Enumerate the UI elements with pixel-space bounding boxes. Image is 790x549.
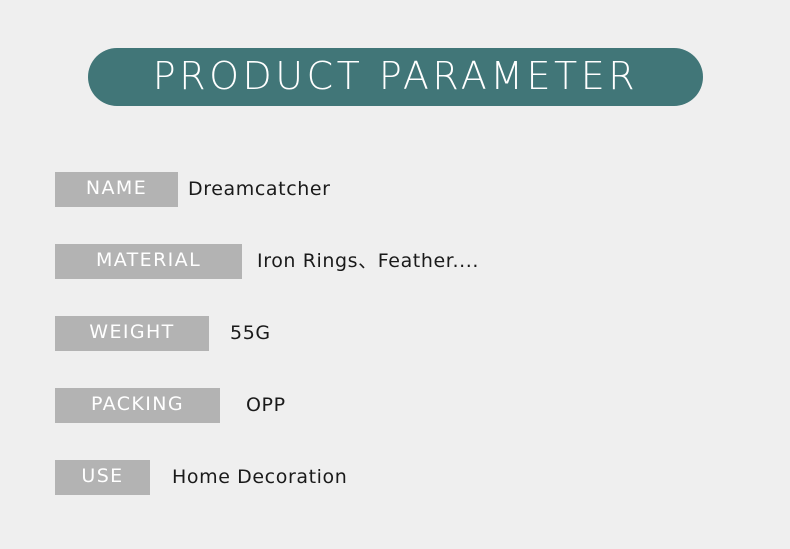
spec-label-chip-name: NAME — [55, 172, 178, 207]
page-title: PRODUCT PARAMETER — [153, 57, 638, 95]
spec-label-use: USE — [81, 467, 123, 486]
spec-value-material: Iron Rings、Feather.... — [257, 244, 479, 279]
spec-label-chip-material: MATERIAL — [55, 244, 242, 279]
spec-label-chip-weight: WEIGHT — [55, 316, 209, 351]
spec-row-packing: PACKING OPP — [0, 388, 790, 423]
spec-list: NAME Dreamcatcher MATERIAL Iron Rings、Fe… — [0, 172, 790, 495]
spec-value-weight: 55G — [230, 316, 271, 351]
spec-label-packing: PACKING — [91, 395, 184, 414]
spec-label-chip-packing: PACKING — [55, 388, 220, 423]
spec-row-material: MATERIAL Iron Rings、Feather.... — [0, 244, 790, 279]
spec-row-name: NAME Dreamcatcher — [0, 172, 790, 207]
spec-value-packing: OPP — [246, 388, 286, 423]
page-title-banner: PRODUCT PARAMETER — [88, 48, 703, 106]
spec-row-weight: WEIGHT 55G — [0, 316, 790, 351]
spec-label-name: NAME — [86, 179, 147, 198]
spec-label-material: MATERIAL — [96, 251, 201, 270]
product-parameter-page: PRODUCT PARAMETER NAME Dreamcatcher MATE… — [0, 0, 790, 549]
spec-row-use: USE Home Decoration — [0, 460, 790, 495]
spec-label-weight: WEIGHT — [89, 323, 174, 342]
spec-value-use: Home Decoration — [172, 460, 347, 495]
spec-value-name: Dreamcatcher — [188, 172, 331, 207]
spec-label-chip-use: USE — [55, 460, 150, 495]
